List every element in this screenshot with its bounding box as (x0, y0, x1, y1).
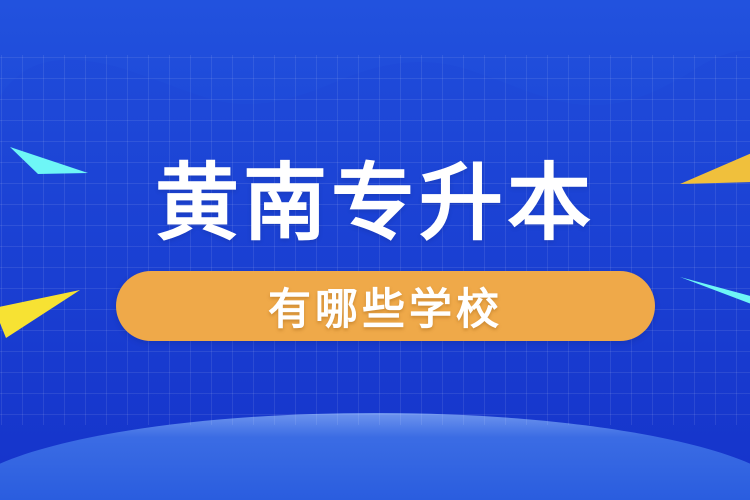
triangle-cyan-right-icon (676, 271, 750, 309)
triangle-yellow-left-icon (0, 286, 90, 344)
subtitle-pill[interactable]: 有哪些学校 (116, 271, 655, 341)
subtitle-pill-label: 有哪些学校 (116, 271, 655, 341)
banner-headline: 黄南专升本 (0, 155, 750, 251)
promo-banner: 黄南专升本 有哪些学校 (0, 0, 750, 500)
